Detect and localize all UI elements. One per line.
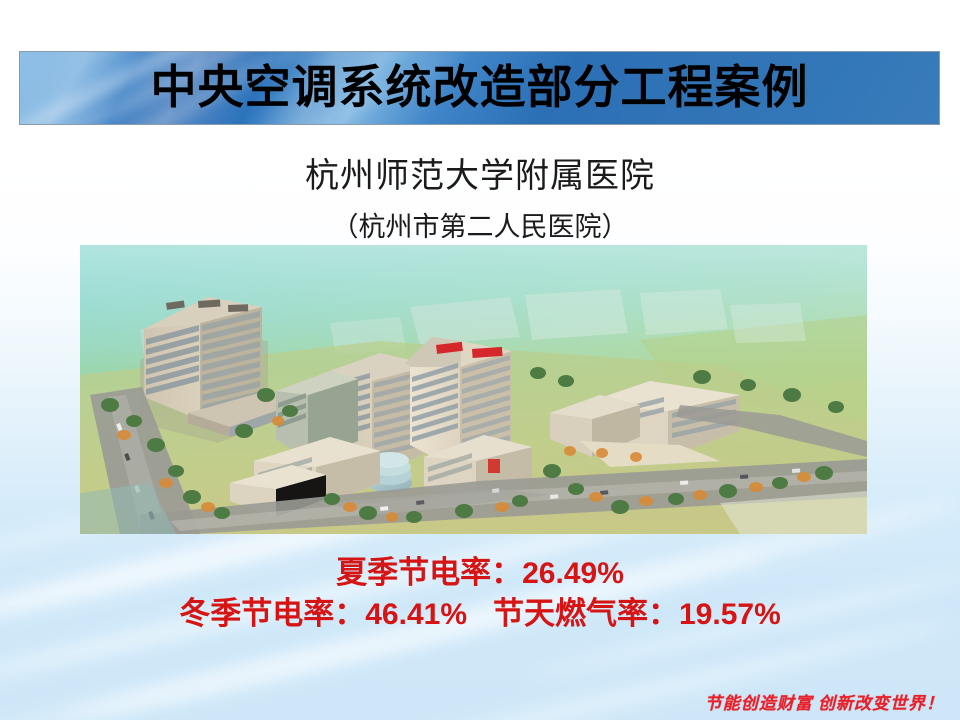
subtitle-hospital-alias: （杭州市第二人民医院） bbox=[0, 205, 960, 244]
hospital-campus-photo bbox=[80, 245, 867, 534]
gas-saving-label: 节天燃气率： bbox=[493, 596, 679, 631]
stat-line-winter-gas: 冬季节电率：46.41%节天燃气率：19.57% bbox=[0, 594, 960, 635]
summer-saving-label: 夏季节电率： bbox=[336, 555, 522, 590]
title-banner: 中央空调系统改造部分工程案例 bbox=[19, 51, 940, 125]
subtitle-hospital-name: 杭州师范大学附属医院 bbox=[0, 148, 960, 197]
winter-saving-label: 冬季节电率： bbox=[179, 596, 365, 631]
slide-canvas: 中央空调系统改造部分工程案例 杭州师范大学附属医院 （杭州市第二人民医院） bbox=[0, 0, 960, 720]
campus-illustration bbox=[80, 245, 867, 534]
stat-line-summer: 夏季节电率：26.49% bbox=[0, 553, 960, 594]
winter-saving-value: 46.41% bbox=[365, 598, 467, 631]
gas-saving-value: 19.57% bbox=[679, 598, 781, 631]
page-title: 中央空调系统改造部分工程案例 bbox=[151, 65, 809, 111]
summer-saving-value: 26.49% bbox=[522, 557, 624, 590]
energy-saving-stats: 夏季节电率：26.49% 冬季节电率：46.41%节天燃气率：19.57% bbox=[0, 553, 960, 635]
footer-slogan: 节能创造财富 创新改变世界！ bbox=[705, 689, 944, 714]
